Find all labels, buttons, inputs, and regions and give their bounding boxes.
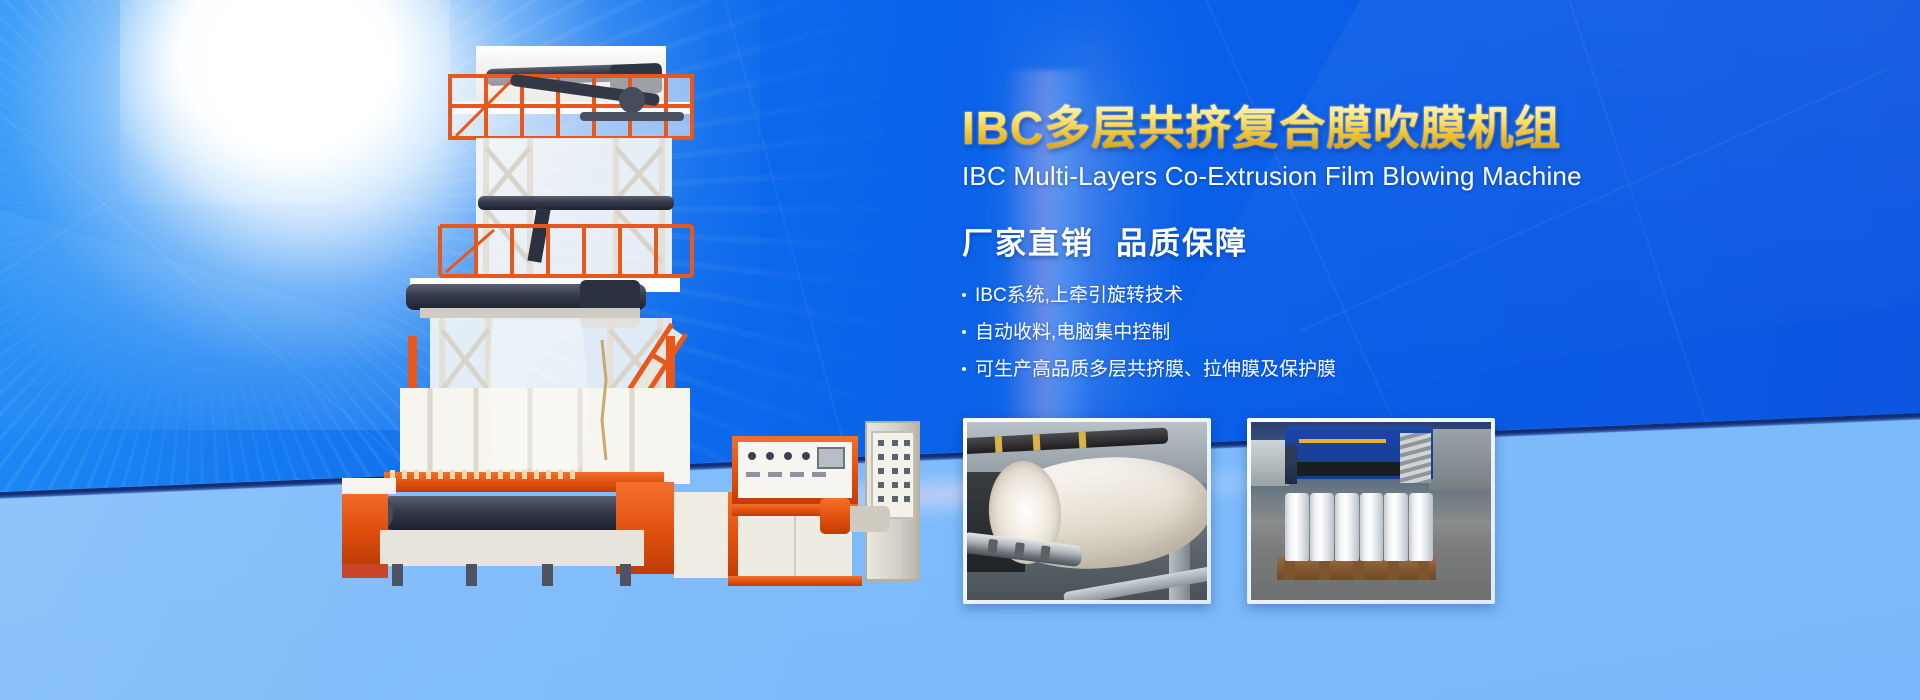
feature-item: 可生产高品质多层共挤膜、拉伸膜及保护膜 — [962, 360, 1722, 379]
tagline: 厂家直销品质保障 — [962, 218, 1722, 263]
feature-item-label: 可生产高品质多层共挤膜、拉伸膜及保护膜 — [975, 360, 1336, 379]
banner-text-block: IBC多层共挤复合膜吹膜机组 IBC Multi-Layers Co-Extru… — [962, 104, 1722, 397]
product-hero-banner: IBC多层共挤复合膜吹膜机组 IBC Multi-Layers Co-Extru… — [0, 0, 1920, 700]
feature-item: IBC系统,上牵引旋转技术 — [962, 286, 1722, 305]
feature-item-label: 自动收料,电脑集中控制 — [975, 323, 1170, 342]
feature-item: 自动收料,电脑集中控制 — [962, 323, 1722, 342]
tagline-left: 厂家直销 — [962, 226, 1094, 261]
bullet-dot-icon — [962, 367, 966, 371]
bullet-dot-icon — [962, 293, 966, 297]
product-photo-gallery — [963, 418, 1495, 604]
stacked-film-rolls-pallet-photo — [1247, 418, 1495, 604]
page-title: IBC多层共挤复合膜吹膜机组 — [962, 104, 1722, 152]
page-subtitle: IBC Multi-Layers Co-Extrusion Film Blowi… — [962, 161, 1722, 192]
feature-list: IBC系统,上牵引旋转技术 自动收料,电脑集中控制 可生产高品质多层共挤膜、拉伸… — [962, 286, 1722, 379]
tagline-right: 品质保障 — [1116, 226, 1248, 261]
film-roll-winder-photo — [963, 418, 1211, 604]
film-blowing-machine-illustration — [280, 40, 920, 630]
bullet-dot-icon — [962, 330, 966, 334]
feature-item-label: IBC系统,上牵引旋转技术 — [975, 286, 1183, 305]
